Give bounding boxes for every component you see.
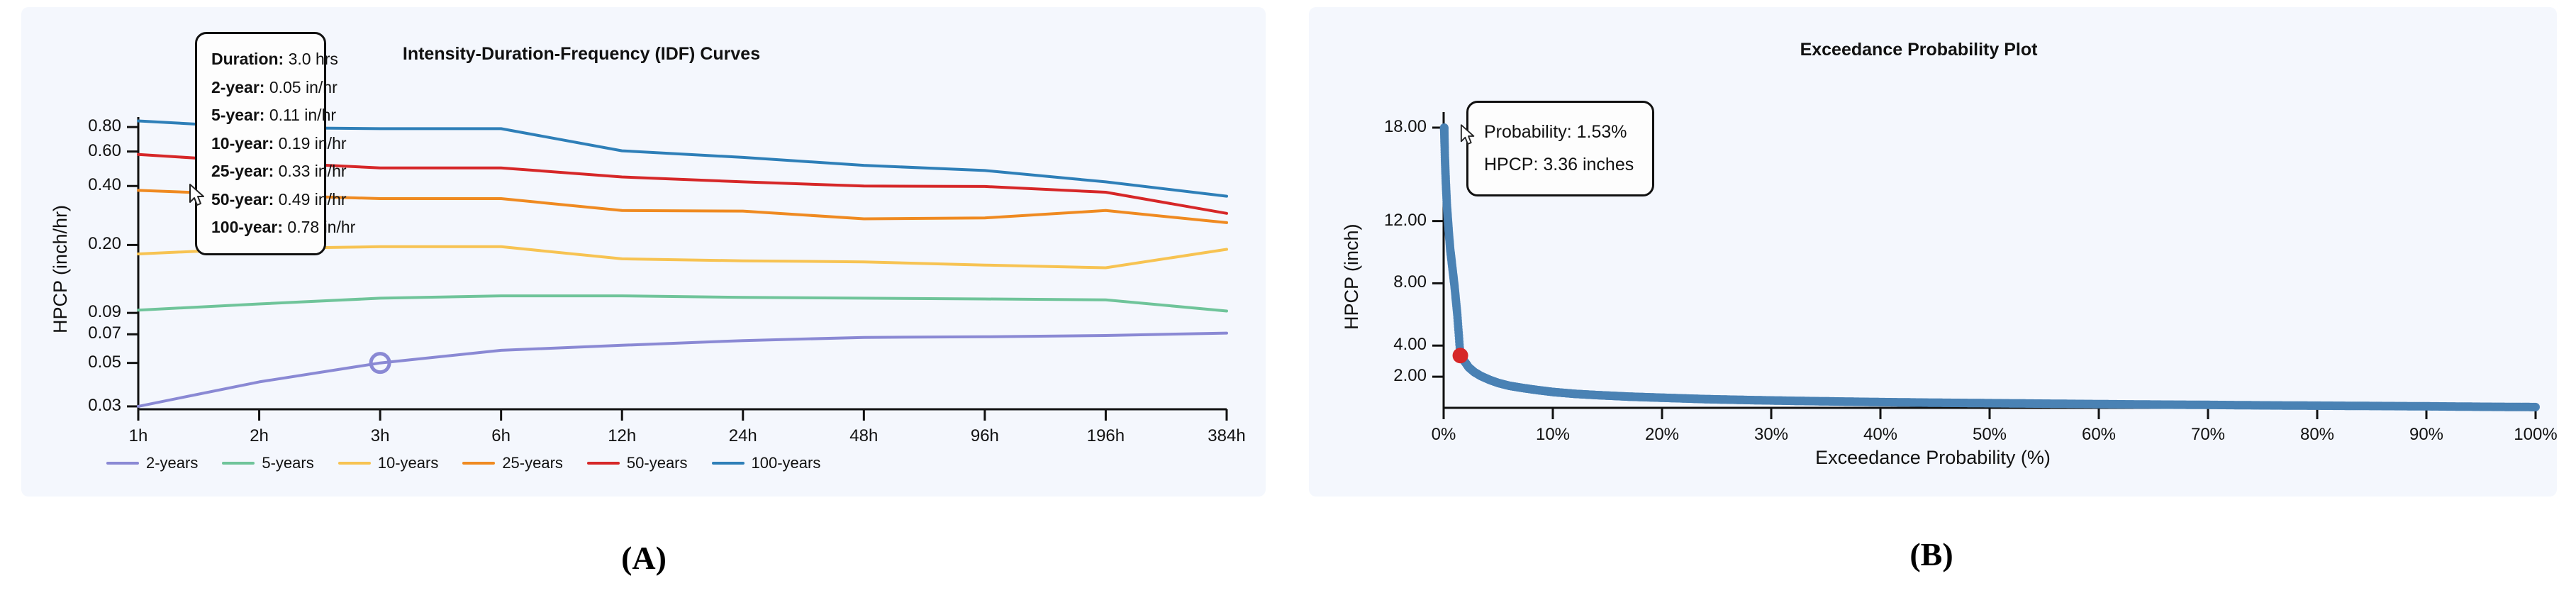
legend-swatch-icon [338, 462, 371, 465]
y-tick-label: 0.60 [88, 141, 121, 161]
tooltip-row: 5-year: 0.11 in/hr [211, 101, 310, 130]
legend-label: 10-years [378, 454, 439, 472]
legend-label: 25-years [502, 454, 563, 472]
tooltip-row-value: 0.05 in/hr [264, 78, 337, 96]
y-tick-label: 12.00 [1384, 211, 1427, 231]
tooltip-row: 50-year: 0.49 in/hr [211, 186, 310, 214]
x-tick-label: 3h [341, 426, 419, 446]
x-tick-label: 10% [1510, 425, 1595, 445]
x-tick-label: 90% [2384, 425, 2469, 445]
exceedance-tooltip: Probability: 1.53% HPCP: 3.36 inches [1466, 101, 1654, 196]
y-tick-label: 0.07 [88, 323, 121, 343]
x-tick-label: 30% [1729, 425, 1814, 445]
tooltip-row-value: 0.33 in/hr [274, 162, 346, 180]
legend-item-25-years[interactable]: 25-years [462, 454, 563, 472]
x-tick-label: 70% [2165, 425, 2251, 445]
tooltip-row-key: Duration: [211, 50, 284, 68]
panel-caption-b: (B) [1288, 536, 2575, 573]
x-tick-label: 100% [2493, 425, 2576, 445]
tooltip-row-value: 0.19 in/hr [274, 134, 346, 152]
y-tick-label: 4.00 [1393, 335, 1427, 355]
x-tick-label: 48h [825, 426, 903, 446]
legend-swatch-icon [462, 462, 495, 465]
panel-a: Intensity-Duration-Frequency (IDF) Curve… [0, 0, 1288, 610]
tooltip-hpcp: HPCP: 3.36 inches [1484, 148, 1637, 181]
legend-swatch-icon [587, 462, 620, 465]
tooltip-row-value: 0.78 in/hr [283, 218, 355, 236]
tooltip-row-key: 10-year: [211, 134, 274, 152]
tooltip-row-key: 5-year: [211, 106, 264, 124]
tooltip-row-key: 100-year: [211, 218, 283, 236]
x-tick-label: 24h [704, 426, 782, 446]
tooltip-row-key: 2-year: [211, 78, 264, 96]
legend-item-2-years[interactable]: 2-years [106, 454, 198, 472]
legend-swatch-icon [712, 462, 745, 465]
tooltip-row: 2-year: 0.05 in/hr [211, 74, 310, 102]
tooltip-row: 10-year: 0.19 in/hr [211, 130, 310, 158]
x-tick-label: 96h [946, 426, 1024, 446]
y-tick-label: 8.00 [1393, 272, 1427, 292]
y-tick-label: 18.00 [1384, 117, 1427, 137]
tooltip-row-value: 3.0 hrs [284, 50, 338, 68]
legend-item-100-years[interactable]: 100-years [712, 454, 821, 472]
x-tick-label: 1h [99, 426, 177, 446]
tooltip-row: 100-year: 0.78 in/hr [211, 213, 310, 242]
legend-label: 50-years [627, 454, 688, 472]
panel-caption-a: (A) [0, 539, 1288, 577]
tooltip-row: Duration: 3.0 hrs [211, 45, 310, 74]
highlight-point [1453, 348, 1468, 363]
x-tick-label: 384h [1188, 426, 1266, 446]
exceedance-plot-svg [1309, 7, 2557, 497]
legend[interactable]: 2-years5-years10-years25-years50-years10… [106, 454, 820, 472]
y-tick-label: 0.09 [88, 302, 121, 322]
legend-label: 5-years [262, 454, 313, 472]
x-tick-label: 80% [2275, 425, 2360, 445]
tooltip-row-value: 0.11 in/hr [264, 106, 336, 124]
figure-root: Intensity-Duration-Frequency (IDF) Curve… [0, 0, 2576, 610]
tooltip-row-value: 0.49 in/hr [274, 190, 346, 209]
y-tick-label: 0.80 [88, 116, 121, 136]
idf-tooltip: Duration: 3.0 hrs2-year: 0.05 in/hr5-yea… [195, 32, 326, 255]
x-tick-label: 196h [1066, 426, 1144, 446]
legend-label: 2-years [146, 454, 198, 472]
y-tick-label: 2.00 [1393, 366, 1427, 386]
y-tick-label: 0.03 [88, 396, 121, 416]
legend-label: 100-years [752, 454, 821, 472]
x-tick-label: 60% [2056, 425, 2141, 445]
x-tick-label: 0% [1401, 425, 1486, 445]
y-tick-label: 0.20 [88, 234, 121, 254]
chart-card-exceedance: Exceedance Probability Plot HPCP (inch) … [1309, 7, 2557, 497]
tooltip-row-key: 25-year: [211, 162, 274, 180]
panel-b: Exceedance Probability Plot HPCP (inch) … [1288, 0, 2575, 610]
x-tick-label: 50% [1947, 425, 2032, 445]
legend-item-5-years[interactable]: 5-years [222, 454, 313, 472]
x-tick-label: 2h [221, 426, 299, 446]
y-tick-label: 0.40 [88, 175, 121, 195]
x-tick-label: 20% [1619, 425, 1705, 445]
tooltip-probability: Probability: 1.53% [1484, 116, 1637, 148]
legend-swatch-icon [222, 462, 255, 465]
tooltip-row: 25-year: 0.33 in/hr [211, 157, 310, 186]
x-tick-label: 12h [583, 426, 661, 446]
legend-item-50-years[interactable]: 50-years [587, 454, 688, 472]
x-tick-label: 40% [1838, 425, 1923, 445]
x-tick-label: 6h [462, 426, 540, 446]
chart-card-idf: Intensity-Duration-Frequency (IDF) Curve… [21, 7, 1266, 497]
y-tick-label: 0.05 [88, 353, 121, 372]
tooltip-row-key: 50-year: [211, 190, 274, 209]
legend-item-10-years[interactable]: 10-years [338, 454, 439, 472]
legend-swatch-icon [106, 462, 139, 465]
